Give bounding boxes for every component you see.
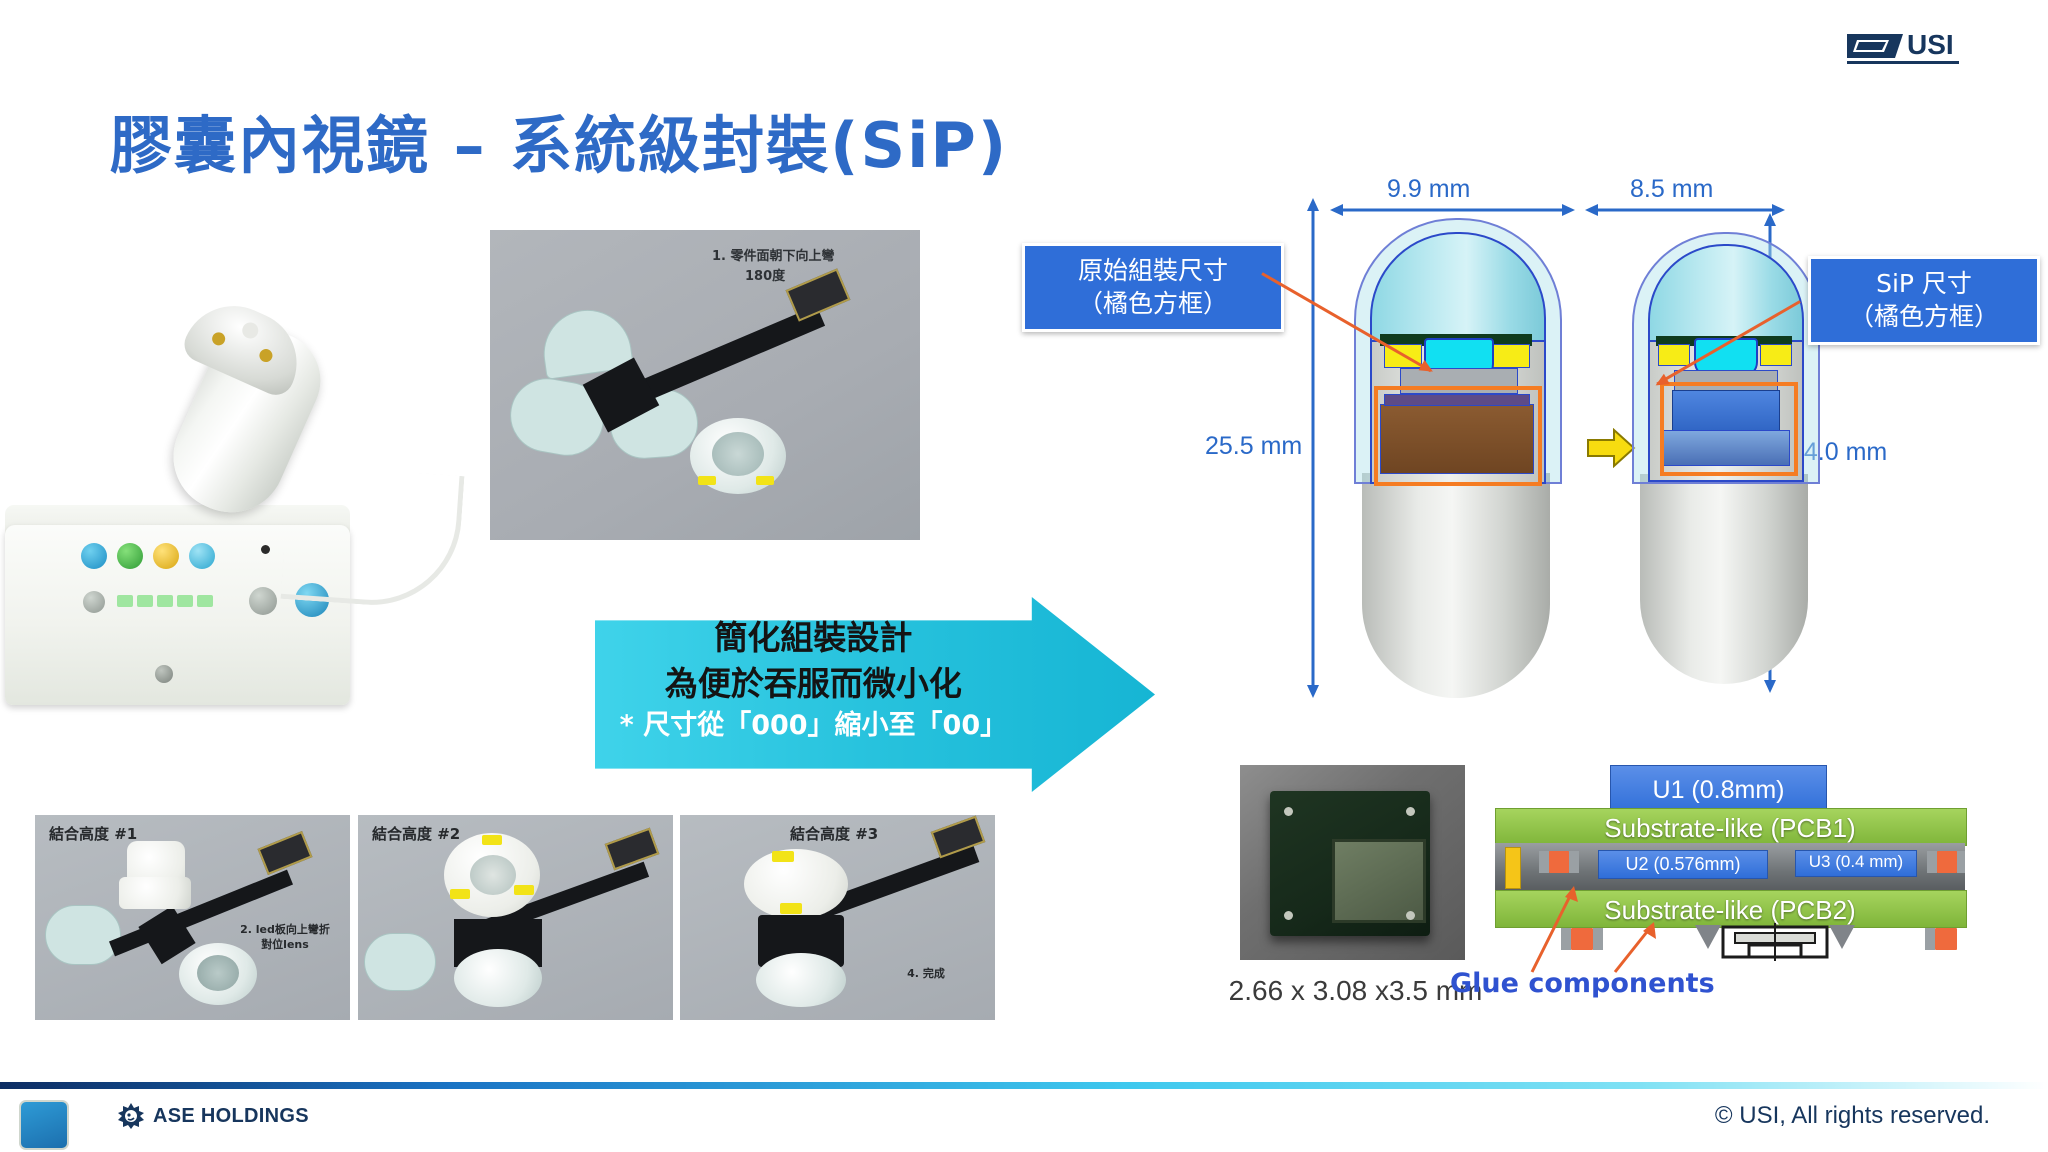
lens-ring	[454, 949, 542, 1007]
original-callout-line2: （橘色方框）	[1039, 288, 1267, 321]
sensor-corner-pad	[1406, 911, 1415, 920]
u3-block: U3 (0.4 mm)	[1795, 850, 1917, 877]
cad-note-line1: 1. 零件面朝下向上彎	[712, 248, 835, 266]
lens-ring	[756, 953, 846, 1007]
recorder-button	[153, 543, 179, 569]
banner-line-3: * 尺寸從「000」縮小至「00」	[595, 706, 1032, 747]
image-sensor-photo	[1240, 765, 1465, 960]
cad-note-line2: 180度	[745, 268, 785, 286]
cyan-arrow-text: 簡化組裝設計 為便於吞服而微小化 * 尺寸從「000」縮小至「00」	[595, 615, 1032, 747]
capsule-led-right	[1760, 344, 1792, 366]
svg-text:USI: USI	[1907, 29, 1954, 60]
u2-block: U2 (0.576mm)	[1598, 850, 1768, 879]
assembly-step-title: 結合高度 #3	[790, 823, 878, 844]
ase-holdings-logo: ASE HOLDINGS	[118, 1103, 309, 1129]
capsule-lower-shell	[1640, 474, 1808, 684]
original-width-dimension-arrow	[1330, 200, 1575, 220]
original-size-highlight-box	[1374, 386, 1542, 486]
recorder-led-dot	[261, 545, 270, 554]
recorder-side-port	[155, 665, 173, 683]
probe-cable	[281, 464, 465, 611]
assembly-step-title: 結合高度 #2	[372, 823, 460, 844]
recorder-button	[117, 543, 143, 569]
recorder-button	[189, 543, 215, 569]
probe-contact-dot	[240, 320, 261, 341]
assembly-step-panel-1: 結合高度 #1 2. led板向上彎折 對位lens	[35, 815, 350, 1020]
probe-contact-dot	[210, 330, 227, 347]
cad-panel-top: 1. 零件面朝下向上彎 180度	[490, 230, 920, 540]
assembly-note-line1: 2. led板向上彎折	[240, 923, 330, 936]
recorder-indicator	[117, 595, 133, 607]
assembly-step-panel-3: 結合高度 #3 4. 完成	[680, 815, 995, 1020]
usi-logo: USI	[1845, 18, 1965, 68]
u2-label: U2 (0.576mm)	[1625, 854, 1740, 874]
lens-ring-inner	[470, 855, 516, 895]
capsule-led-left	[1658, 344, 1690, 366]
flex-circuit-connector	[605, 828, 660, 871]
led-emitter	[772, 851, 794, 862]
sip-width-dimension-arrow	[1585, 200, 1785, 220]
footer-divider	[0, 1082, 2048, 1089]
slide-root: USI 膠囊內視鏡 – 系統級封裝(SiP)	[0, 0, 2048, 1152]
banner-line-2: 為便於吞服而微小化	[595, 661, 1032, 707]
capsule-lower-shell	[1362, 473, 1550, 698]
pcb1-label: Substrate-like (PCB1)	[1495, 813, 1965, 844]
capsule-led-right	[1492, 344, 1530, 368]
led-base	[119, 877, 191, 909]
sensor-corner-pad	[1284, 807, 1293, 816]
sensor-corner-pad	[1406, 807, 1415, 816]
chip-resistor	[1937, 851, 1957, 873]
assembly-step-note: 2. led板向上彎折 對位lens	[230, 923, 340, 953]
component-terminal	[1569, 851, 1579, 873]
recorder-indicator	[157, 595, 173, 607]
recorder-indicator	[197, 595, 213, 607]
recorder-button	[249, 587, 277, 615]
ase-sun-icon	[118, 1103, 144, 1129]
led-emitter	[780, 903, 802, 914]
recorder-indicator	[177, 595, 193, 607]
assembly-note-line2: 對位lens	[261, 938, 309, 951]
cad-led	[756, 476, 774, 485]
original-height-label: 25.5 mm	[1205, 432, 1302, 461]
led-emitter	[482, 835, 502, 845]
component-terminal	[1927, 851, 1937, 873]
lens-ring-inner	[197, 955, 239, 991]
sip-callout-line1: SiP 尺寸	[1825, 268, 2023, 301]
yellow-component	[1505, 847, 1521, 889]
copyright-text: © USI, All rights reserved.	[1715, 1102, 1990, 1130]
banner-line-1: 簡化組裝設計	[595, 615, 1032, 661]
original-callout-line1: 原始組裝尺寸	[1039, 255, 1267, 288]
assembly-note-line1: 4. 完成	[907, 967, 945, 980]
sip-size-highlight-box	[1660, 382, 1798, 476]
component-terminal	[1539, 851, 1549, 873]
recorder-screen	[19, 1100, 69, 1150]
assembly-step-panel-2: 結合高度 #2 3. 向下彎折 180度	[358, 815, 673, 1020]
original-capsule-drawing	[1340, 218, 1572, 698]
glue-components-label: Glue components	[1450, 968, 1715, 999]
sensor-package	[1270, 791, 1430, 936]
assembly-step-note: 4. 完成	[876, 967, 976, 982]
ase-holdings-text: ASE HOLDINGS	[153, 1105, 309, 1128]
original-size-callout: 原始組裝尺寸 （橘色方框）	[1022, 243, 1284, 332]
sip-callout-line2: （橘色方框）	[1825, 301, 2023, 334]
assembly-step-title: 結合高度 #1	[49, 823, 137, 844]
cyan-arrow-banner: 簡化組裝設計 為便於吞服而微小化 * 尺寸從「000」縮小至「00」	[595, 597, 1155, 792]
chip-resistor	[1935, 928, 1957, 950]
recorder-indicator	[137, 595, 153, 607]
recorder-button	[83, 591, 105, 613]
flex-circuit-connector	[258, 831, 313, 875]
page-title: 膠囊內視鏡 – 系統級封裝(SiP)	[110, 95, 1008, 185]
cad-blade	[364, 933, 436, 991]
cad-lens-ring-inner	[712, 432, 764, 476]
sensor-corner-pad	[1284, 911, 1293, 920]
probe-contact-dot	[257, 347, 274, 364]
u1-label: U1 (0.8mm)	[1653, 776, 1785, 804]
cad-led	[698, 476, 716, 485]
led-emitter	[514, 885, 534, 895]
glue-leader-lines	[1520, 880, 1720, 980]
sip-size-callout: SiP 尺寸 （橘色方框）	[1808, 256, 2040, 345]
component-terminal	[1957, 851, 1965, 873]
u3-label: U3 (0.4 mm)	[1809, 852, 1903, 871]
cad-blade	[45, 905, 121, 965]
recorder-button	[81, 543, 107, 569]
original-height-dimension-arrow	[1303, 198, 1323, 698]
chip-resistor	[1549, 851, 1569, 873]
led-emitter	[450, 889, 470, 899]
component-terminal	[1925, 928, 1935, 950]
